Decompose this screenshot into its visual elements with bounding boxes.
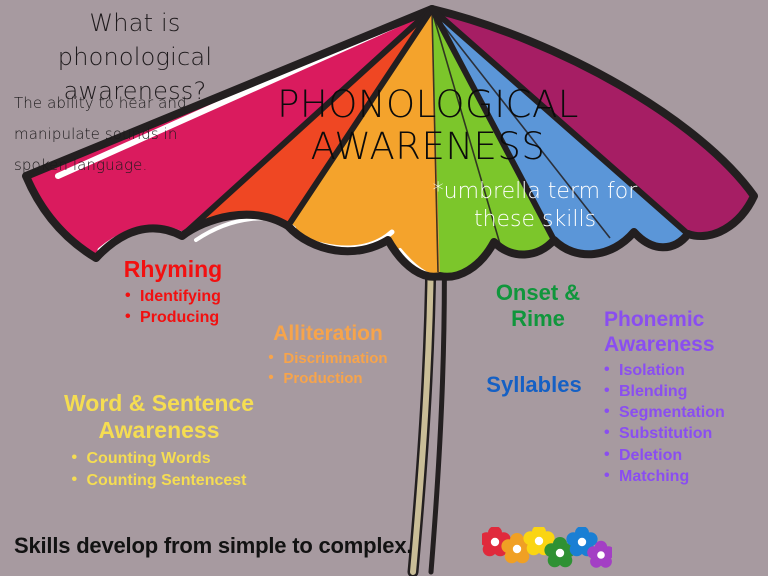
list-item: Blending — [604, 381, 768, 402]
flower-decoration-row — [482, 527, 612, 573]
list-item: Counting Words — [71, 448, 246, 469]
definition-text: The ability to hear and manipulate sound… — [14, 88, 229, 182]
skill-group-word-sentence-awareness: Word & Sentence Awareness Counting Words… — [24, 390, 294, 491]
skill-title-alliteration: Alliteration — [238, 322, 418, 347]
list-item: Discrimination — [268, 349, 387, 369]
skill-list-rhyming: Identifying Producing — [125, 286, 221, 329]
list-item: Counting Sentencest — [71, 470, 246, 491]
skill-group-rhyming: Rhyming Identifying Producing — [88, 256, 258, 329]
list-item: Production — [268, 369, 387, 389]
list-item: Identifying — [125, 286, 221, 307]
skill-title-onset-rime: Onset & Rime — [466, 280, 610, 332]
list-item: Isolation — [604, 360, 768, 381]
skill-group-alliteration: Alliteration Discrimination Production — [238, 322, 418, 389]
list-item: Matching — [604, 466, 768, 487]
list-item: Producing — [125, 307, 221, 328]
list-item: Segmentation — [604, 402, 768, 423]
infographic-canvas: What is phonological awareness? The abil… — [0, 0, 768, 576]
umbrella-note: *umbrella term for these skills — [400, 178, 670, 233]
skill-list-alliteration: Discrimination Production — [268, 349, 387, 389]
skill-title-syllables: Syllables — [462, 372, 606, 398]
list-item: Substitution — [604, 423, 768, 444]
footer-caption: Skills develop from simple to complex. — [14, 533, 412, 559]
skill-list-phonemic-awareness: Isolation Blending Segmentation Substitu… — [604, 360, 768, 488]
skill-group-onset-rime: Onset & Rime — [466, 280, 610, 332]
skill-group-phonemic-awareness: Phonemic Awareness Isolation Blending Se… — [604, 308, 768, 487]
skill-title-word-sentence-awareness: Word & Sentence Awareness — [24, 390, 294, 444]
skill-title-phonemic-awareness: Phonemic Awareness — [604, 308, 768, 358]
skill-group-syllables: Syllables — [462, 372, 606, 398]
skill-title-rhyming: Rhyming — [88, 256, 258, 283]
skill-list-word-sentence-awareness: Counting Words Counting Sentencest — [71, 448, 246, 491]
umbrella-title: PHONOLOGICAL AWARENESS — [238, 84, 618, 168]
umbrella-pole — [413, 230, 444, 572]
list-item: Deletion — [604, 445, 768, 466]
